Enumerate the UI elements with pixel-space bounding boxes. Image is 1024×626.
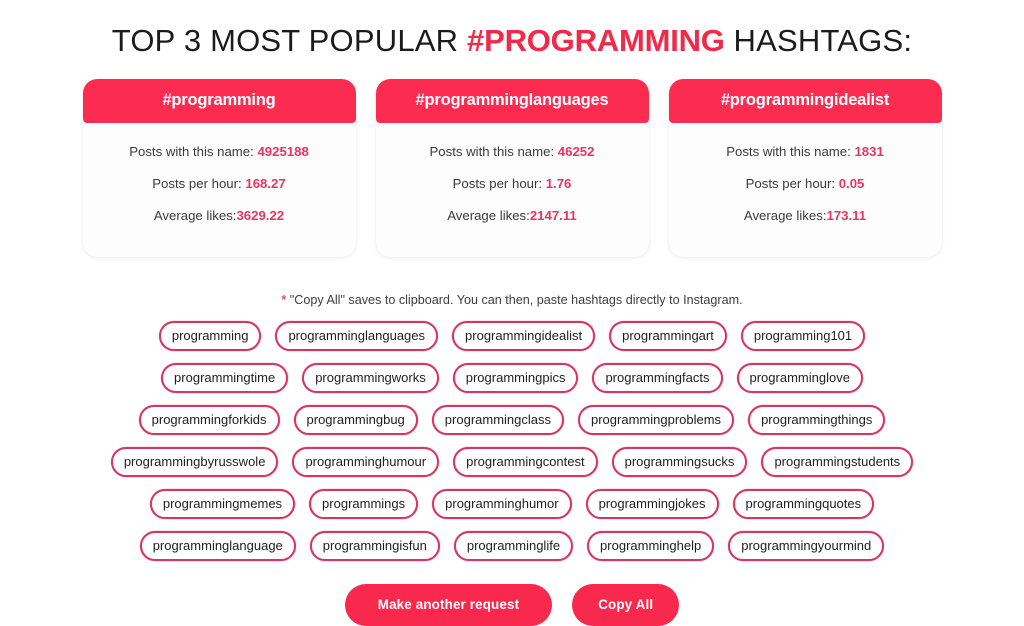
hashtag-pill[interactable]: programmingmemes <box>150 489 295 519</box>
hashtag-pill-row: programmingbyrusswoleprogramminghumourpr… <box>0 447 1024 477</box>
hashtag-pill[interactable]: programmingjokes <box>586 489 719 519</box>
hashtag-card-title: #programmingidealist <box>669 79 942 123</box>
hashtag-pill-row: programmingforkidsprogrammingbugprogramm… <box>0 405 1024 435</box>
copy-all-note: * "Copy All" saves to clipboard. You can… <box>0 293 1024 307</box>
hashtag-card-title: #programming <box>83 79 356 123</box>
hashtag-pill[interactable]: programmingstudents <box>761 447 913 477</box>
stat-label: Posts per hour: <box>152 176 241 191</box>
stat-value: 1.76 <box>546 176 572 191</box>
stat-value: 4925188 <box>257 144 308 159</box>
hashtag-pill[interactable]: programmingcontest <box>453 447 598 477</box>
stat-posts-per-hour: Posts per hour: 168.27 <box>93 176 346 191</box>
hashtag-pill[interactable]: programmingidealist <box>452 321 595 351</box>
note-text: "Copy All" saves to clipboard. You can t… <box>286 293 742 307</box>
hashtag-card-stats: Posts with this name: 46252 Posts per ho… <box>376 123 649 257</box>
hashtag-pill[interactable]: programminglanguages <box>275 321 438 351</box>
hashtag-pill[interactable]: programminghumour <box>292 447 439 477</box>
stat-value: 173.11 <box>826 208 866 223</box>
hashtag-card-stats: Posts with this name: 4925188 Posts per … <box>83 123 356 257</box>
stat-value: 2147.11 <box>530 208 577 223</box>
stat-label: Average likes: <box>447 208 530 223</box>
stat-label: Posts with this name: <box>430 144 555 159</box>
hashtag-pill[interactable]: programmingclass <box>432 405 564 435</box>
stat-average-likes: Average likes:3629.22 <box>93 208 346 223</box>
hashtag-pill[interactable]: programmingisfun <box>310 531 440 561</box>
page-title-prefix: TOP 3 MOST POPULAR <box>112 23 467 58</box>
top-hashtag-cards: #programming Posts with this name: 49251… <box>0 79 1024 257</box>
hashtag-pill[interactable]: programmingthings <box>748 405 885 435</box>
hashtag-card-title: #programminglanguages <box>376 79 649 123</box>
page-title-suffix: HASHTAGS: <box>725 23 912 58</box>
stat-value: 168.27 <box>245 176 285 191</box>
hashtag-pill[interactable]: programmingquotes <box>733 489 875 519</box>
hashtag-pill-list: programmingprogramminglanguagesprogrammi… <box>0 321 1024 561</box>
hashtag-pill[interactable]: programmingbyrusswole <box>111 447 279 477</box>
hashtag-pill[interactable]: programmingworks <box>302 363 439 393</box>
hashtag-pill[interactable]: programmingsucks <box>612 447 748 477</box>
page-title-accent: #PROGRAMMING <box>467 23 725 58</box>
hashtag-pill[interactable]: programmingfacts <box>592 363 722 393</box>
hashtag-pill[interactable]: programmingart <box>609 321 727 351</box>
stat-posts-with-name: Posts with this name: 46252 <box>386 144 639 159</box>
hashtag-pill[interactable]: programmingyourmind <box>728 531 884 561</box>
stat-average-likes: Average likes:2147.11 <box>386 208 639 223</box>
stat-posts-with-name: Posts with this name: 4925188 <box>93 144 346 159</box>
hashtag-pill[interactable]: programmingforkids <box>139 405 280 435</box>
hashtag-pill[interactable]: programmingtime <box>161 363 288 393</box>
stat-value: 46252 <box>558 144 595 159</box>
stat-label: Posts per hour: <box>746 176 835 191</box>
stat-average-likes: Average likes:173.11 <box>679 208 932 223</box>
stat-label: Posts with this name: <box>129 144 254 159</box>
stat-label: Posts with this name: <box>726 144 851 159</box>
hashtag-pill-row: programmingprogramminglanguagesprogrammi… <box>0 321 1024 351</box>
stat-label: Average likes: <box>154 208 237 223</box>
hashtag-card: #programminglanguages Posts with this na… <box>376 79 649 257</box>
hashtag-pill[interactable]: programmings <box>309 489 418 519</box>
hashtag-pill[interactable]: programming101 <box>741 321 865 351</box>
hashtag-pill-row: programmingmemesprogrammingsprogrammingh… <box>0 489 1024 519</box>
copy-all-button[interactable]: Copy All <box>572 584 679 626</box>
hashtag-card-stats: Posts with this name: 1831 Posts per hou… <box>669 123 942 257</box>
hashtag-pill-row: programmingtimeprogrammingworksprogrammi… <box>0 363 1024 393</box>
hashtag-pill[interactable]: programmingproblems <box>578 405 734 435</box>
hashtag-pill[interactable]: programminglove <box>737 363 863 393</box>
hashtag-pill[interactable]: programminghelp <box>587 531 714 561</box>
stat-value: 1831 <box>854 144 883 159</box>
hashtag-pill[interactable]: programming <box>159 321 262 351</box>
hashtag-pill[interactable]: programmingbug <box>294 405 418 435</box>
stat-posts-with-name: Posts with this name: 1831 <box>679 144 932 159</box>
hashtag-card: #programming Posts with this name: 49251… <box>83 79 356 257</box>
stat-value: 0.05 <box>839 176 865 191</box>
make-another-request-button[interactable]: Make another request <box>345 584 552 626</box>
stat-label: Average likes: <box>744 208 827 223</box>
action-buttons: Make another request Copy All <box>0 584 1024 626</box>
stat-posts-per-hour: Posts per hour: 0.05 <box>679 176 932 191</box>
hashtag-pill[interactable]: programminglanguage <box>140 531 296 561</box>
stat-value: 3629.22 <box>236 208 284 223</box>
page-title: TOP 3 MOST POPULAR #PROGRAMMING HASHTAGS… <box>0 0 1024 59</box>
hashtag-pill[interactable]: programmingpics <box>453 363 579 393</box>
hashtag-pill-row: programminglanguageprogrammingisfunprogr… <box>0 531 1024 561</box>
hashtag-pill[interactable]: programminglife <box>454 531 573 561</box>
hashtag-card: #programmingidealist Posts with this nam… <box>669 79 942 257</box>
stat-posts-per-hour: Posts per hour: 1.76 <box>386 176 639 191</box>
hashtag-pill[interactable]: programminghumor <box>432 489 571 519</box>
stat-label: Posts per hour: <box>453 176 542 191</box>
